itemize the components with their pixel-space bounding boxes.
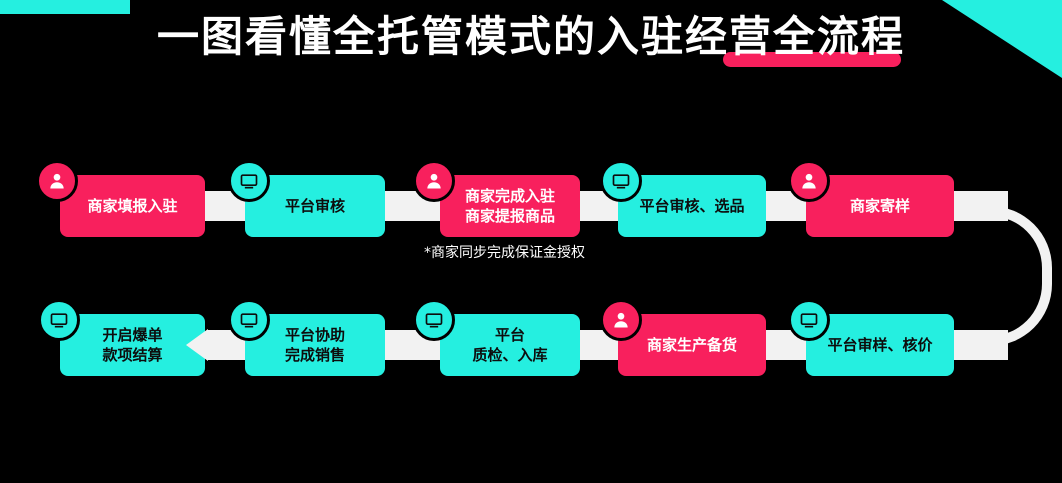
person-icon [413, 160, 455, 202]
monitor-icon [788, 299, 830, 341]
flow-node-label: 平台审核、选品 [639, 196, 744, 216]
flow-node-label-line1: 商家完成入驻 [465, 186, 555, 206]
flow-node-label-line1: 平台协助 [285, 325, 345, 345]
flow-node-label-line1: 开启爆单 [102, 325, 162, 345]
flow-node-label-line1: 平台 [495, 325, 525, 345]
monitor-icon [413, 299, 455, 341]
connector-r2-1 [946, 330, 1008, 360]
arrow-left-icon [186, 329, 208, 361]
flow-node-r2-0[interactable]: 开启爆单 款项结算 [60, 314, 205, 376]
monitor-icon [600, 160, 642, 202]
flow-node-label: 平台审核 [285, 196, 345, 216]
flow-node-r1-0[interactable]: 商家填报入驻 [60, 175, 205, 237]
flow-node-label: 商家填报入驻 [87, 196, 177, 216]
flowchart: 商家填报入驻 平台审核 商家完成入驻 商家提报商品 平台审核、选品 商家寄样 *… [0, 130, 1062, 430]
person-icon [788, 160, 830, 202]
flow-node-label-line2: 质检、入库 [472, 345, 547, 365]
footnote: *商家同步完成保证金授权 [424, 242, 585, 262]
monitor-icon [228, 299, 270, 341]
flow-node-label: 商家寄样 [850, 196, 910, 216]
flow-node-label-line2: 商家提报商品 [465, 206, 555, 226]
flow-node-r1-2[interactable]: 商家完成入驻 商家提报商品 [440, 175, 580, 237]
flow-node-label-line2: 完成销售 [285, 345, 345, 365]
title-block: 一图看懂全托管模式的入驻经营全流程 [0, 8, 1062, 78]
connector-curve-right [990, 206, 1052, 346]
flow-node-label-line2: 款项结算 [102, 345, 162, 365]
monitor-icon [228, 160, 270, 202]
person-icon [600, 299, 642, 341]
flow-node-label: 商家生产备货 [647, 335, 737, 355]
page-title: 一图看懂全托管模式的入驻经营全流程 [157, 8, 905, 66]
flow-node-r2-2[interactable]: 平台 质检、入库 [440, 314, 580, 376]
person-icon [36, 160, 78, 202]
flow-node-label: 平台审样、核价 [827, 335, 932, 355]
monitor-icon [38, 299, 80, 341]
